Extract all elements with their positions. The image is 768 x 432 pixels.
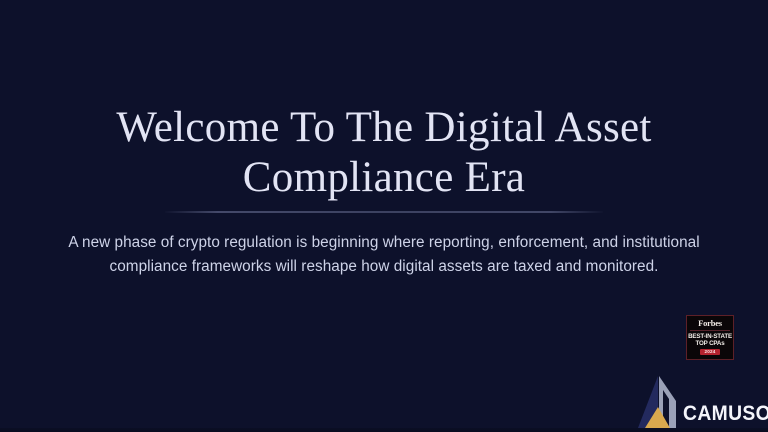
page-title: Welcome To The Digital Asset Compliance …: [0, 103, 768, 203]
body-block: A new phase of crypto regulation is begi…: [50, 231, 718, 278]
bottom-edge-band: [0, 428, 768, 432]
forbes-year-badge: 2024: [700, 349, 719, 355]
forbes-wordmark: Forbes: [698, 319, 722, 328]
badge-divider: [690, 330, 730, 331]
forbes-award-line-2: TOP CPAs: [695, 340, 724, 347]
mountain-logo-icon: [636, 374, 682, 428]
forbes-award-line-1: BEST-IN-STATE: [688, 333, 732, 340]
logo-name: CAMUSO: [683, 403, 768, 424]
title-divider: [165, 211, 603, 213]
presentation-slide: Welcome To The Digital Asset Compliance …: [0, 0, 768, 432]
body-paragraph: A new phase of crypto regulation is begi…: [50, 231, 718, 278]
logo-wordmark: CAMUSO CPA: [683, 403, 768, 428]
forbes-award-badge: Forbes BEST-IN-STATE TOP CPAs 2024: [686, 315, 734, 360]
camuso-cpa-logo: CAMUSO CPA: [636, 374, 768, 428]
title-block: Welcome To The Digital Asset Compliance …: [0, 103, 768, 203]
